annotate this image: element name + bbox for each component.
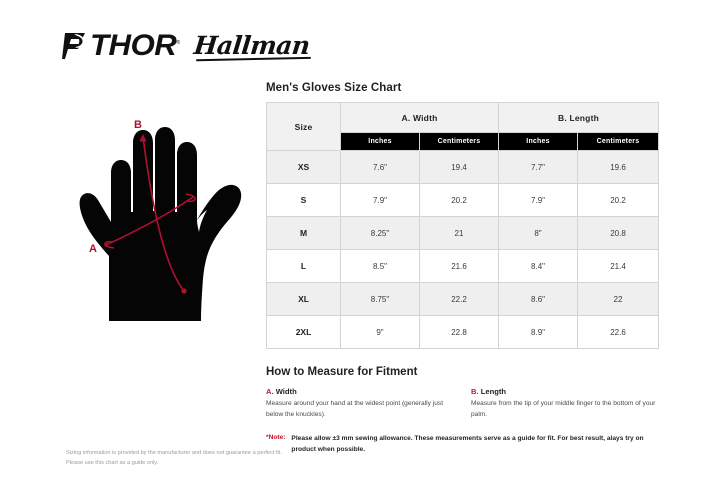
how-to-item-width: A. Width Measure around your hand at the…	[266, 387, 453, 420]
how-to-measure-section: How to Measure for Fitment A. Width Meas…	[266, 366, 658, 456]
footer-disclaimer: Sizing information is provided by the ma…	[66, 449, 396, 469]
table-row: XL 8.75" 22.2 8.6" 22	[267, 283, 659, 316]
cell-size: XS	[267, 151, 341, 184]
cell-width-centimeters: 22.8	[420, 316, 499, 349]
brand-logo-bar: THOR® Hallman	[62, 31, 310, 61]
cell-length-inches: 8.4"	[499, 250, 578, 283]
cell-width-centimeters: 20.2	[420, 184, 499, 217]
chart-content-column: Men's Gloves Size Chart Size A. Width B.…	[266, 82, 658, 456]
how-to-name-length: Length	[479, 387, 506, 396]
cell-length-centimeters: 20.8	[578, 217, 659, 250]
column-header-size: Size	[267, 103, 341, 151]
hallman-logo: Hallman	[194, 33, 309, 59]
how-to-item-length: B. Length Measure from the tip of your m…	[471, 387, 658, 420]
cell-size: 2XL	[267, 316, 341, 349]
how-to-subtitle-width: A. Width	[266, 387, 453, 396]
how-to-letter-a: A.	[266, 387, 274, 396]
how-to-name-width: Width	[274, 387, 297, 396]
cell-length-centimeters: 22.6	[578, 316, 659, 349]
cell-width-centimeters: 21.6	[420, 250, 499, 283]
cell-length-centimeters: 21.4	[578, 250, 659, 283]
cell-width-inches: 7.9"	[341, 184, 420, 217]
glove-diagram-svg: B A	[62, 96, 262, 321]
table-head: Size A. Width B. Length Inches Centimete…	[267, 103, 659, 151]
cell-size: L	[267, 250, 341, 283]
table-header-row-groups: Size A. Width B. Length	[267, 103, 659, 133]
cell-length-inches: 8"	[499, 217, 578, 250]
column-group-header-length: B. Length	[499, 103, 659, 133]
thor-hammer-icon	[62, 32, 88, 60]
table-row: XS 7.6" 19.4 7.7" 19.6	[267, 151, 659, 184]
cell-width-inches: 7.6"	[341, 151, 420, 184]
cell-width-centimeters: 22.2	[420, 283, 499, 316]
cell-width-inches: 8.25"	[341, 217, 420, 250]
size-chart-table: Size A. Width B. Length Inches Centimete…	[266, 102, 659, 349]
cell-width-inches: 8.5"	[341, 250, 420, 283]
cell-length-centimeters: 22	[578, 283, 659, 316]
how-to-letter-b: B.	[471, 387, 479, 396]
diagram-label-a: A	[89, 243, 97, 255]
column-header-width-inches: Inches	[341, 133, 420, 151]
cell-size: S	[267, 184, 341, 217]
diagram-label-b: B	[134, 119, 142, 131]
table-row: M 8.25" 21 8" 20.8	[267, 217, 659, 250]
width-measure-endpoint	[104, 243, 107, 246]
table-row: S 7.9" 20.2 7.9" 20.2	[267, 184, 659, 217]
cell-length-inches: 8.6"	[499, 283, 578, 316]
cell-length-inches: 7.7"	[499, 151, 578, 184]
how-to-subtitle-length: B. Length	[471, 387, 658, 396]
cell-length-inches: 7.9"	[499, 184, 578, 217]
cell-width-centimeters: 19.4	[420, 151, 499, 184]
glove-measurement-diagram: B A	[62, 96, 262, 321]
cell-length-inches: 8.9"	[499, 316, 578, 349]
column-header-length-inches: Inches	[499, 133, 578, 151]
how-to-body-width: Measure around your hand at the widest p…	[266, 399, 453, 420]
footer-line-2: Please use this chart as a guide only.	[66, 459, 396, 469]
table-body: XS 7.6" 19.4 7.7" 19.6 S 7.9" 20.2 7.9" …	[267, 151, 659, 349]
column-header-length-centimeters: Centimeters	[578, 133, 659, 151]
thor-logo: THOR®	[62, 31, 176, 61]
cell-width-centimeters: 21	[420, 217, 499, 250]
size-chart-page: THOR® Hallman B A Men's Gloves	[0, 0, 720, 492]
thor-wordmark: THOR®	[90, 31, 180, 61]
cell-length-centimeters: 19.6	[578, 151, 659, 184]
hand-silhouette	[80, 127, 242, 321]
cell-width-inches: 9"	[341, 316, 420, 349]
note-label: *Note:	[266, 434, 285, 441]
cell-size: M	[267, 217, 341, 250]
cell-size: XL	[267, 283, 341, 316]
table-row: 2XL 9" 22.8 8.9" 22.6	[267, 316, 659, 349]
cell-length-centimeters: 20.2	[578, 184, 659, 217]
cell-width-inches: 8.75"	[341, 283, 420, 316]
column-group-header-width: A. Width	[341, 103, 499, 133]
how-to-measure-columns: A. Width Measure around your hand at the…	[266, 387, 658, 420]
page-title: Men's Gloves Size Chart	[266, 82, 658, 94]
thor-trademark-symbol: ®	[176, 40, 179, 46]
footer-line-1: Sizing information is provided by the ma…	[66, 449, 396, 459]
length-measure-endpoint	[181, 288, 186, 293]
column-header-width-centimeters: Centimeters	[420, 133, 499, 151]
table-row: L 8.5" 21.6 8.4" 21.4	[267, 250, 659, 283]
how-to-measure-title: How to Measure for Fitment	[266, 366, 658, 378]
how-to-body-length: Measure from the tip of your middle fing…	[471, 399, 658, 420]
hallman-wordmark: Hallman	[193, 33, 311, 58]
